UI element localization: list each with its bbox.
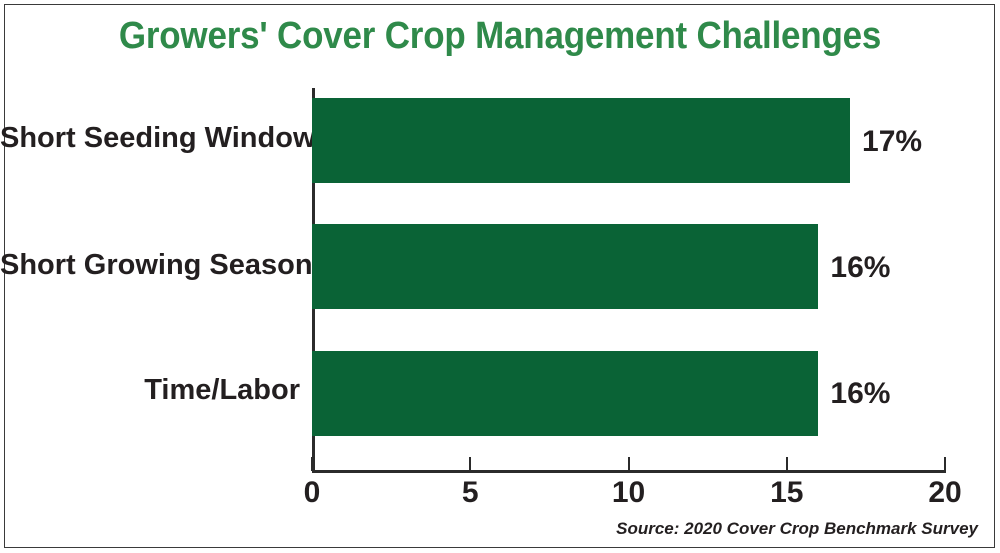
x-tick-label-0: 0 <box>304 476 321 510</box>
category-label-2: Time/Labor <box>0 374 300 407</box>
chart-figure: Growers' Cover Crop Management Challenge… <box>0 0 1000 553</box>
x-tick-5 <box>469 457 471 471</box>
x-tick-10 <box>628 457 630 471</box>
x-tick-label-15: 15 <box>770 476 803 510</box>
value-label-0: 17% <box>862 125 922 159</box>
bar-short-seeding-window <box>312 98 850 183</box>
bar-time-labor <box>312 351 818 436</box>
chart-title: Growers' Cover Crop Management Challenge… <box>40 14 960 58</box>
source-note: Source: 2020 Cover Crop Benchmark Survey <box>616 519 978 539</box>
category-label-1: Short Growing Season <box>0 249 300 282</box>
category-label-0: Short Seeding Window <box>0 122 300 155</box>
value-label-1: 16% <box>830 251 890 285</box>
x-tick-label-20: 20 <box>928 476 961 510</box>
x-tick-label-5: 5 <box>462 476 479 510</box>
x-tick-0 <box>311 457 313 471</box>
value-label-2: 16% <box>830 377 890 411</box>
bar-short-growing-season <box>312 224 818 309</box>
x-tick-label-10: 10 <box>612 476 645 510</box>
x-tick-20 <box>944 457 946 471</box>
x-tick-15 <box>786 457 788 471</box>
